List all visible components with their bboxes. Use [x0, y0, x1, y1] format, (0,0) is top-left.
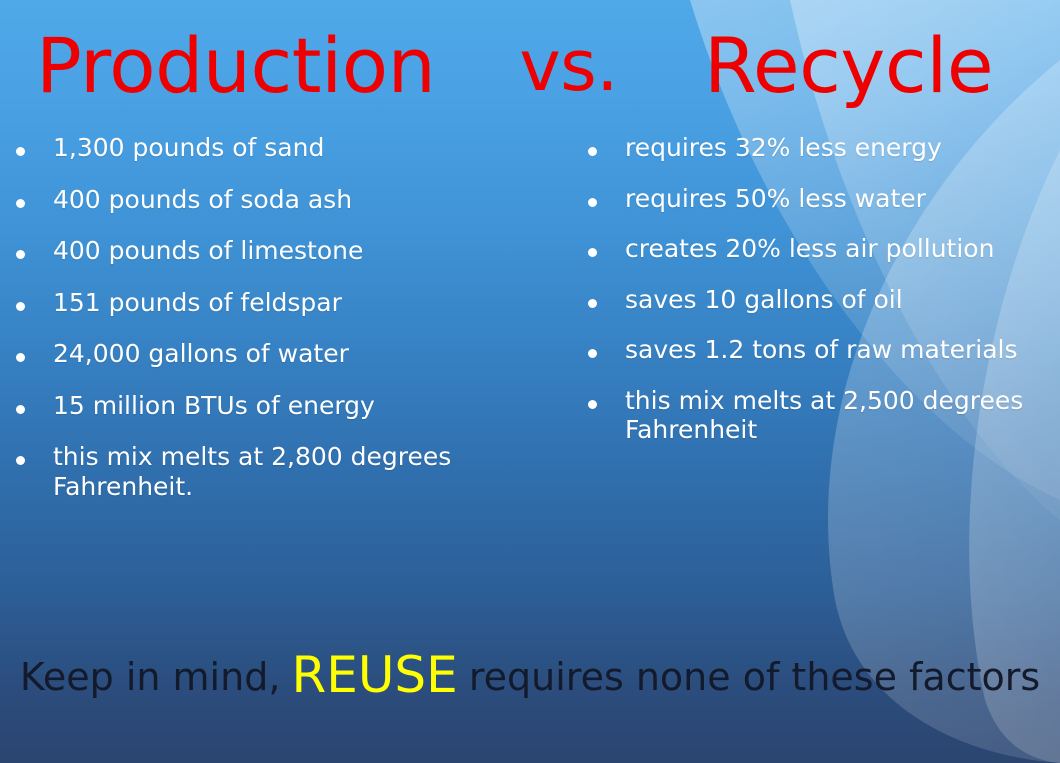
bullet-dot-icon	[588, 400, 597, 409]
list-item-label: 400 pounds of soda ash	[53, 185, 352, 215]
list-item: 400 pounds of soda ash	[16, 185, 546, 215]
bullet-dot-icon	[16, 405, 25, 414]
title-word-recycle: Recycle	[704, 28, 993, 104]
list-item-label: 1,300 pounds of sand	[53, 133, 324, 163]
bullet-dot-icon	[16, 199, 25, 208]
list-item: this mix melts at 2,500 degrees Fahrenhe…	[588, 386, 1054, 445]
slide-title: Production vs. Recycle	[0, 14, 1060, 118]
list-item: 400 pounds of limestone	[16, 236, 546, 266]
production-bullet-list: 1,300 pounds of sand 400 pounds of soda …	[16, 133, 546, 523]
list-item: requires 32% less energy	[588, 133, 1054, 163]
list-item-label: creates 20% less air pollution	[625, 234, 994, 264]
list-item-label: 400 pounds of limestone	[53, 236, 363, 266]
title-word-vs: vs.	[519, 31, 618, 101]
recycle-bullet-list: requires 32% less energy requires 50% le…	[588, 133, 1054, 466]
list-item: requires 50% less water	[588, 184, 1054, 214]
list-item-label: saves 1.2 tons of raw materials	[625, 335, 1018, 365]
slide-caption: Keep in mind, REUSE requires none of the…	[0, 650, 1060, 700]
bullet-dot-icon	[16, 353, 25, 362]
list-item-label: requires 50% less water	[625, 184, 926, 214]
list-item: 15 million BTUs of energy	[16, 391, 546, 421]
list-item-label: 151 pounds of feldspar	[53, 288, 342, 318]
slide-canvas: Production vs. Recycle 1,300 pounds of s…	[0, 0, 1060, 763]
list-item-label: 15 million BTUs of energy	[53, 391, 375, 421]
list-item: 151 pounds of feldspar	[16, 288, 546, 318]
bullet-dot-icon	[588, 198, 597, 207]
bullet-dot-icon	[16, 302, 25, 311]
list-item: saves 1.2 tons of raw materials	[588, 335, 1054, 365]
bullet-dot-icon	[588, 349, 597, 358]
bullet-dot-icon	[588, 248, 597, 257]
list-item-label: 24,000 gallons of water	[53, 339, 349, 369]
caption-text-before: Keep in mind,	[20, 655, 281, 699]
list-item: saves 10 gallons of oil	[588, 285, 1054, 315]
list-item: this mix melts at 2,800 degrees Fahrenhe…	[16, 442, 546, 501]
bullet-dot-icon	[588, 147, 597, 156]
list-item: creates 20% less air pollution	[588, 234, 1054, 264]
bullet-dot-icon	[16, 250, 25, 259]
list-item-label: saves 10 gallons of oil	[625, 285, 903, 315]
list-item: 1,300 pounds of sand	[16, 133, 546, 163]
bullet-dot-icon	[16, 147, 25, 156]
list-item-label: this mix melts at 2,800 degrees Fahrenhe…	[53, 442, 546, 501]
caption-text-after: requires none of these factors	[469, 655, 1040, 699]
list-item-label: requires 32% less energy	[625, 133, 942, 163]
title-word-production: Production	[36, 28, 435, 104]
list-item-label: this mix melts at 2,500 degrees Fahrenhe…	[625, 386, 1054, 445]
caption-highlight-reuse: REUSE	[292, 646, 458, 704]
bullet-dot-icon	[16, 456, 25, 465]
bullet-dot-icon	[588, 299, 597, 308]
list-item: 24,000 gallons of water	[16, 339, 546, 369]
